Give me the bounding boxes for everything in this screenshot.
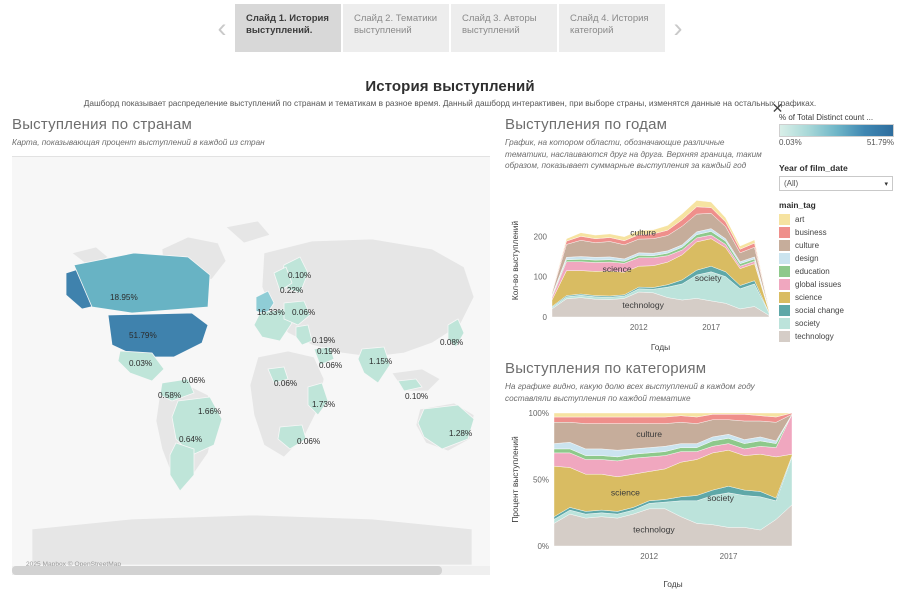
- legend-item-design[interactable]: design: [779, 252, 894, 265]
- map-country-value: 0.19%: [312, 336, 335, 345]
- area-inline-label: technology: [622, 300, 664, 310]
- categories-panel-header: Выступления по категориям На графике вид…: [505, 360, 795, 404]
- main-tag-legend: main_tag artbusinessculturedesigneducati…: [779, 200, 894, 343]
- area-inline-label: society: [707, 493, 734, 503]
- legend-swatch-icon: [779, 331, 790, 342]
- year-filter: Year of film_date (All) ▾: [779, 163, 893, 191]
- main-tag-legend-title: main_tag: [779, 200, 894, 210]
- years-panel-header: Выступления по годам График, на котором …: [505, 116, 767, 172]
- map-country-value: 1.66%: [198, 407, 221, 416]
- tab-next-arrow-icon[interactable]: ›: [665, 5, 691, 51]
- legend-item-art[interactable]: art: [779, 213, 894, 226]
- chevron-down-icon: ▾: [884, 180, 888, 188]
- map-country-value: 1.73%: [312, 400, 335, 409]
- map-country-value: 0.58%: [158, 391, 181, 400]
- y-axis-tick: 50%: [533, 476, 549, 485]
- map-country-value: 51.79%: [129, 331, 157, 340]
- map-country-value: 0.64%: [179, 435, 202, 444]
- legend-label: art: [795, 215, 804, 224]
- gradient-legend-caption: % of Total Distinct count ...: [779, 113, 894, 122]
- tab-slide-3[interactable]: Слайд 3. Авторы выступлений: [451, 4, 557, 52]
- legend-item-science[interactable]: science: [779, 291, 894, 304]
- y-axis-tick: 100%: [529, 409, 549, 418]
- legend-label: technology: [795, 332, 834, 341]
- talks-by-category-chart[interactable]: 0%50%100%20122017ГодыПроцент выступлений…: [508, 405, 796, 590]
- talks-by-year-chart[interactable]: 010020020122017ГодыКол-во выступленийcul…: [508, 198, 773, 353]
- area-inline-label: science: [603, 264, 632, 274]
- tab-slide-3-label: Слайд 3. Авторы выступлений: [462, 13, 537, 36]
- map-country-value: 0.08%: [440, 338, 463, 347]
- categories-panel-title: Выступления по категориям: [505, 360, 795, 377]
- world-map[interactable]: 18.95%51.79%0.03%0.06%0.58%1.66%0.64%0.1…: [12, 156, 490, 571]
- tab-slide-1-label: Слайд 1. История выступлений.: [246, 13, 329, 36]
- legend-label: social change: [795, 306, 844, 315]
- legend-swatch-icon: [779, 253, 790, 264]
- legend-swatch-icon: [779, 292, 790, 303]
- gradient-legend-min: 0.03%: [779, 138, 802, 147]
- slide-tabs: Слайд 1. История выступлений. Слайд 2. Т…: [235, 4, 665, 52]
- map-country-value: 0.10%: [288, 271, 311, 280]
- map-panel-description: Карта, показывающая процент выступлений …: [12, 137, 482, 149]
- legend-swatch-icon: [779, 279, 790, 290]
- legend-swatch-icon: [779, 214, 790, 225]
- map-panel-header: Выступления по странам Карта, показывающ…: [12, 116, 482, 149]
- map-country-value: 0.06%: [292, 308, 315, 317]
- legend-swatch-icon: [779, 227, 790, 238]
- area-inline-label: science: [611, 487, 640, 497]
- map-country-value: 0.22%: [280, 286, 303, 295]
- x-axis-tick: 2017: [702, 323, 720, 332]
- legend-label: business: [795, 228, 827, 237]
- legend-item-culture[interactable]: culture: [779, 239, 894, 252]
- map-country-value: 0.06%: [182, 376, 205, 385]
- area-inline-label: technology: [633, 525, 675, 535]
- x-axis-tick: 2012: [640, 552, 658, 561]
- tab-prev-arrow-icon[interactable]: ‹: [209, 5, 235, 51]
- map-country-value: 0.06%: [274, 379, 297, 388]
- tab-slide-4[interactable]: Слайд 4. История категорий: [559, 4, 665, 52]
- year-filter-label: Year of film_date: [779, 163, 893, 173]
- legend-label: design: [795, 254, 819, 263]
- map-country-value: 18.95%: [110, 293, 138, 302]
- legend-swatch-icon: [779, 240, 790, 251]
- legend-label: global issues: [795, 280, 841, 289]
- slide-tab-strip: ‹ Слайд 1. История выступлений. Слайд 2.…: [0, 0, 900, 56]
- map-country-value: 0.19%: [317, 347, 340, 356]
- legend-item-society[interactable]: society: [779, 317, 894, 330]
- map-country-value: 0.06%: [319, 361, 342, 370]
- legend-item-technology[interactable]: technology: [779, 330, 894, 343]
- map-country-value: 0.06%: [297, 437, 320, 446]
- tab-slide-2-label: Слайд 2. Тематики выступлений: [354, 13, 437, 36]
- gradient-legend-bar: [779, 124, 894, 137]
- legend-swatch-icon: [779, 318, 790, 329]
- years-panel-title: Выступления по годам: [505, 116, 767, 133]
- x-axis-title: Годы: [663, 579, 682, 589]
- next-panel-partial-title: [12, 583, 282, 597]
- years-panel-description: График, на котором области, обозначающие…: [505, 137, 767, 172]
- legend-label: education: [795, 267, 830, 276]
- gradient-legend-max: 51.79%: [867, 138, 894, 147]
- map-panel-title: Выступления по странам: [12, 116, 482, 133]
- legend-label: culture: [795, 241, 819, 250]
- legend-item-business[interactable]: business: [779, 226, 894, 239]
- legend-item-education[interactable]: education: [779, 265, 894, 278]
- y-axis-title: Кол-во выступлений: [510, 221, 520, 301]
- map-country-value: 16.33%: [257, 308, 285, 317]
- legend-label: science: [795, 293, 822, 302]
- map-horizontal-scrollbar[interactable]: [12, 566, 490, 575]
- y-axis-tick: 0: [543, 313, 548, 322]
- legend-item-global-issues[interactable]: global issues: [779, 278, 894, 291]
- area-inline-label: culture: [636, 429, 662, 439]
- legend-item-social-change[interactable]: social change: [779, 304, 894, 317]
- x-axis-tick: 2017: [720, 552, 738, 561]
- year-filter-select[interactable]: (All) ▾: [779, 176, 893, 191]
- tab-slide-4-label: Слайд 4. История категорий: [570, 13, 649, 36]
- map-country-value: 0.03%: [129, 359, 152, 368]
- area-inline-label: society: [695, 273, 722, 283]
- tab-slide-1[interactable]: Слайд 1. История выступлений.: [235, 4, 341, 52]
- y-axis-tick: 100: [534, 273, 548, 282]
- y-axis-tick: 200: [534, 232, 548, 241]
- world-map-svg: [12, 157, 490, 571]
- gradient-legend: % of Total Distinct count ... 0.03% 51.7…: [779, 113, 894, 147]
- x-axis-tick: 2012: [630, 323, 648, 332]
- y-axis-tick: 0%: [537, 542, 549, 551]
- legend-swatch-icon: [779, 266, 790, 277]
- year-filter-value: (All): [784, 179, 798, 188]
- dashboard-subtitle: Дашборд показывает распределение выступл…: [0, 98, 900, 108]
- tab-slide-2[interactable]: Слайд 2. Тематики выступлений: [343, 4, 449, 52]
- country-canada: [74, 253, 210, 313]
- legend-swatch-icon: [779, 305, 790, 316]
- map-country-value: 1.28%: [449, 429, 472, 438]
- area-inline-label: culture: [630, 228, 656, 238]
- categories-panel-description: На графике видно, какую долю всех выступ…: [505, 381, 795, 404]
- legend-label: society: [795, 319, 820, 328]
- x-axis-title: Годы: [651, 342, 670, 352]
- map-scrollbar-thumb[interactable]: [12, 566, 442, 575]
- dashboard-title: История выступлений: [0, 78, 900, 95]
- map-country-value: 1.15%: [369, 357, 392, 366]
- y-axis-title: Процент выступлений: [510, 436, 520, 523]
- map-country-value: 0.10%: [405, 392, 428, 401]
